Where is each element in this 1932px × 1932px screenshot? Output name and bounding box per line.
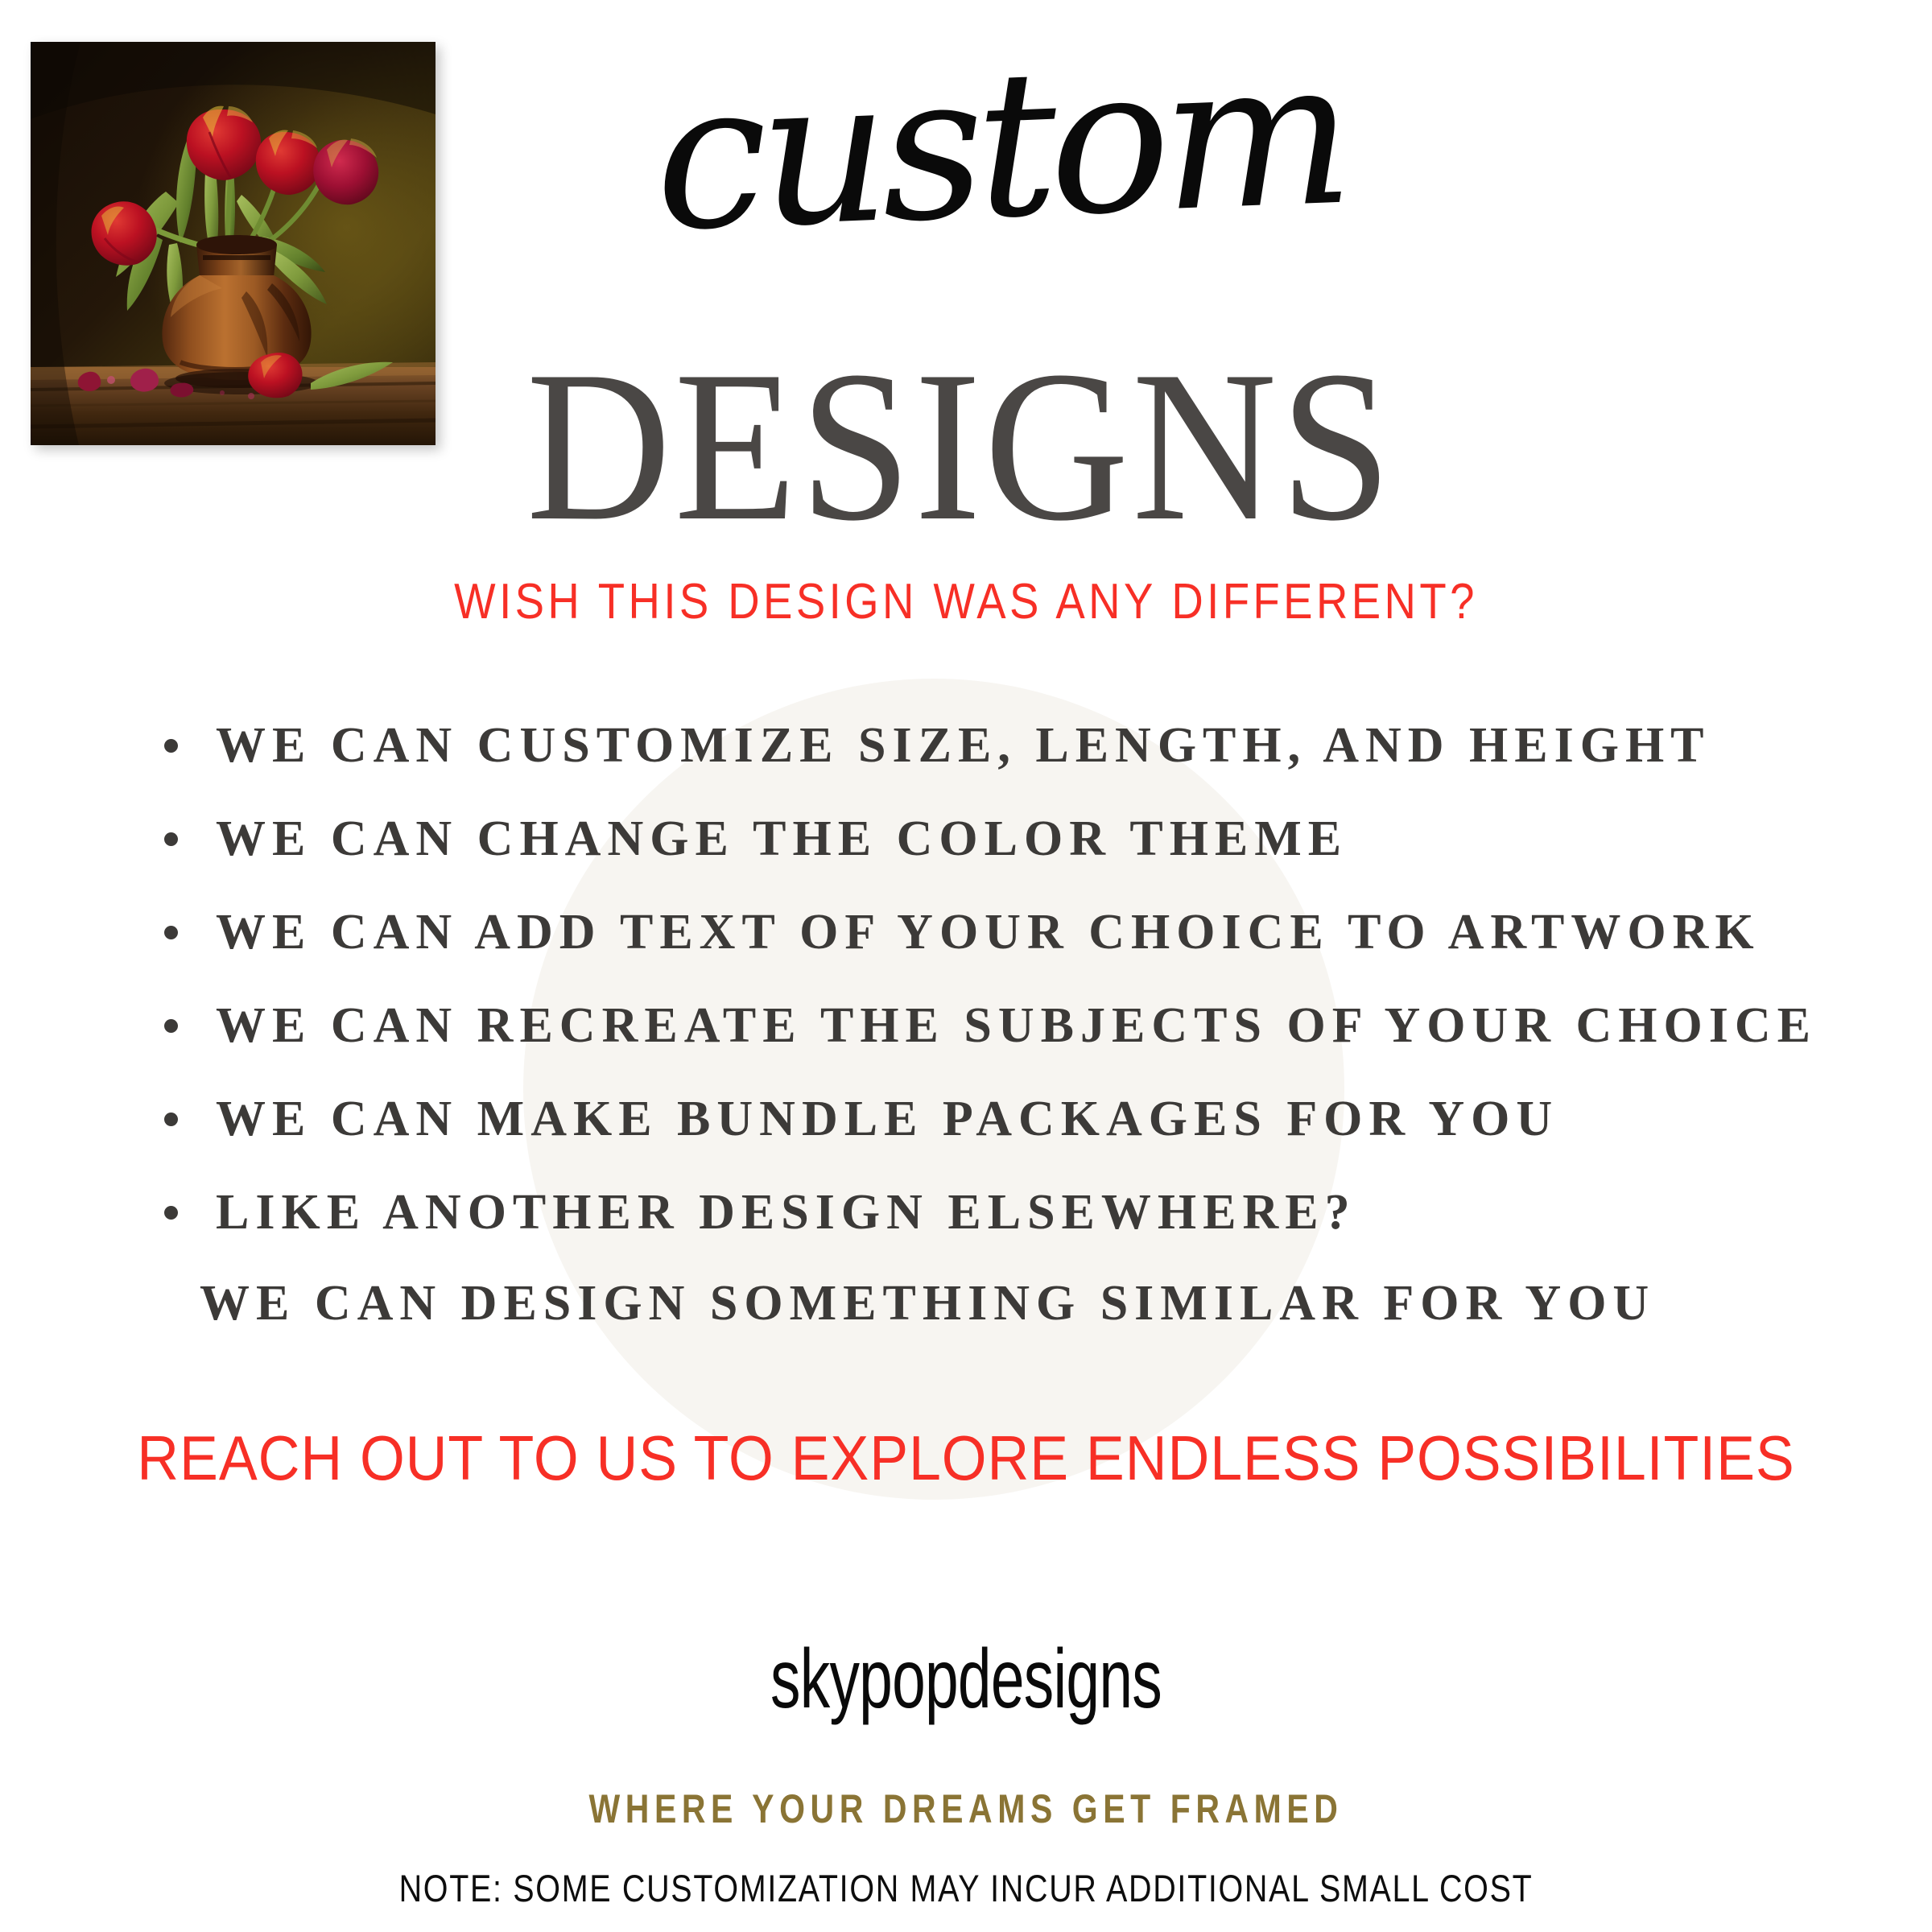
list-item: WE CAN RECREATE THE SUBJECTS OF YOUR CHO… bbox=[161, 979, 1851, 1072]
promo-graphic-canvas: custom DESIGNS WISH THIS DESIGN WAS ANY … bbox=[0, 0, 1932, 1932]
bullet-dot-icon bbox=[164, 1019, 178, 1033]
brand-tagline: WHERE YOUR DREAMS GET FRAMED bbox=[174, 1789, 1758, 1829]
feature-list: WE CAN CUSTOMIZE SIZE, LENGTH, AND HEIGH… bbox=[161, 699, 1851, 1259]
subtitle-question: WISH THIS DESIGN WAS ANY DIFFERENT? bbox=[116, 573, 1816, 630]
tulip-still-life-illustration bbox=[31, 42, 436, 445]
bullet-dot-icon bbox=[164, 739, 178, 753]
bullet-dot-icon bbox=[164, 1206, 178, 1220]
list-item: WE CAN CHANGE THE COLOR THEME bbox=[161, 792, 1851, 885]
list-item: WE CAN ADD TEXT OF YOUR CHOICE TO ARTWOR… bbox=[161, 885, 1851, 979]
artwork-thumbnail[interactable] bbox=[31, 42, 436, 445]
footnote-text: NOTE: SOME CUSTOMIZATION MAY INCUR ADDIT… bbox=[155, 1869, 1777, 1907]
bullet-dot-icon bbox=[164, 926, 178, 939]
bullet-dot-icon bbox=[164, 1113, 178, 1126]
call-to-action-text: REACH OUT TO US TO EXPLORE ENDLESS POSSI… bbox=[77, 1426, 1855, 1489]
list-item-label: WE CAN CHANGE THE COLOR THEME bbox=[216, 811, 1348, 866]
list-item-label: WE CAN MAKE BUNDLE PACKAGES FOR YOU bbox=[216, 1092, 1558, 1146]
list-item-label: LIKE ANOTHER DESIGN ELSEWHERE? bbox=[216, 1185, 1356, 1240]
list-item-label: WE CAN ADD TEXT OF YOUR CHOICE TO ARTWOR… bbox=[216, 905, 1761, 960]
bullet-dot-icon bbox=[164, 832, 178, 846]
brand-logo-wordmark: skypopdesigns bbox=[270, 1637, 1662, 1721]
list-item-continuation: WE CAN DESIGN SOMETHING SIMILAR FOR YOU bbox=[200, 1278, 1655, 1328]
list-item: WE CAN CUSTOMIZE SIZE, LENGTH, AND HEIGH… bbox=[161, 699, 1851, 792]
list-item: WE CAN MAKE BUNDLE PACKAGES FOR YOU bbox=[161, 1072, 1851, 1166]
list-item-label: WE CAN CUSTOMIZE SIZE, LENGTH, AND HEIGH… bbox=[216, 718, 1711, 773]
list-item-label: WE CAN RECREATE THE SUBJECTS OF YOUR CHO… bbox=[216, 998, 1817, 1053]
list-item: LIKE ANOTHER DESIGN ELSEWHERE? bbox=[161, 1166, 1851, 1259]
